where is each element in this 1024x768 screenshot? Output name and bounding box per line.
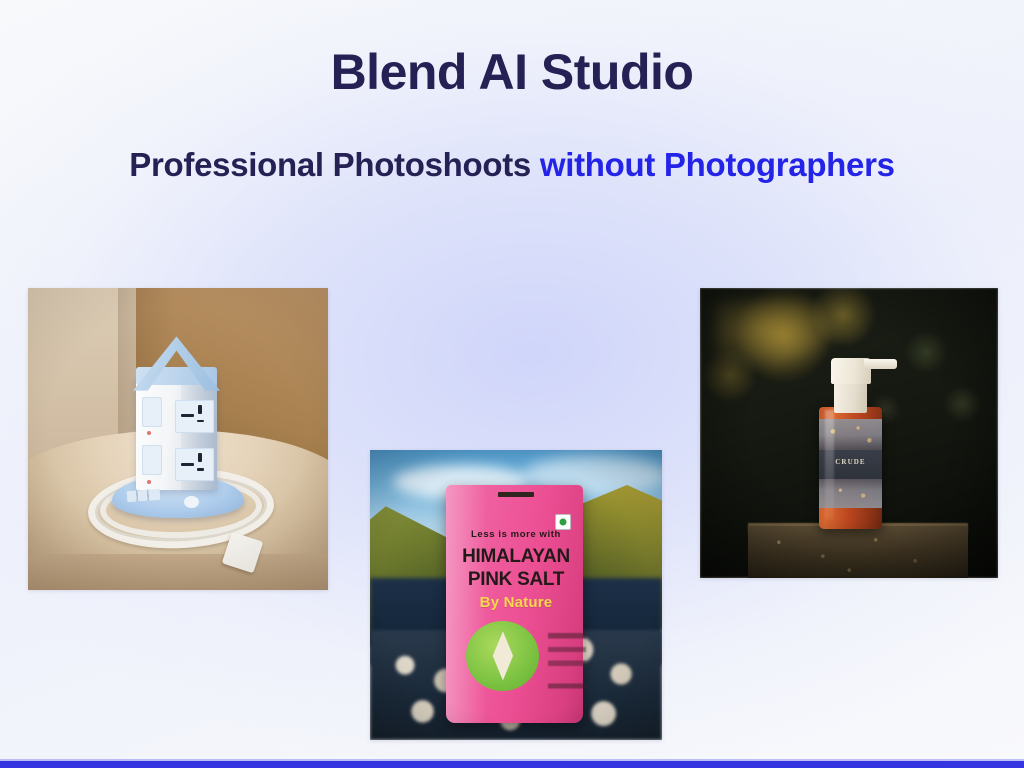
- page-title: Blend AI Studio: [0, 46, 1024, 99]
- photo-scene-mountain: Less is more with HIMALAYAN PINK SALT By…: [370, 450, 662, 740]
- subtitle-block: Professional Photoshoots without Photogr…: [0, 146, 1024, 184]
- subtitle-text-accent: without Photographers: [540, 146, 895, 183]
- photo-vignette: [28, 288, 328, 590]
- subtitle-text-primary: Professional Photoshoots: [129, 146, 540, 183]
- title-block: Blend AI Studio: [0, 46, 1024, 99]
- product-photo-amber-oil-bottle[interactable]: CRUDE: [700, 288, 998, 578]
- product-photo-extension-power-strip[interactable]: [28, 288, 328, 590]
- product-photo-himalayan-pink-salt[interactable]: Less is more with HIMALAYAN PINK SALT By…: [370, 450, 662, 740]
- bottom-accent-bar: [0, 761, 1024, 768]
- photo-scene-studio-podium: [28, 288, 328, 590]
- photo-scene-dark-bokeh: CRUDE: [700, 288, 998, 578]
- page-subtitle: Professional Photoshoots without Photogr…: [22, 146, 1002, 184]
- photo-vignette: [700, 288, 998, 578]
- slide-canvas: Blend AI Studio Professional Photoshoots…: [0, 0, 1024, 768]
- photo-vignette: [370, 450, 662, 740]
